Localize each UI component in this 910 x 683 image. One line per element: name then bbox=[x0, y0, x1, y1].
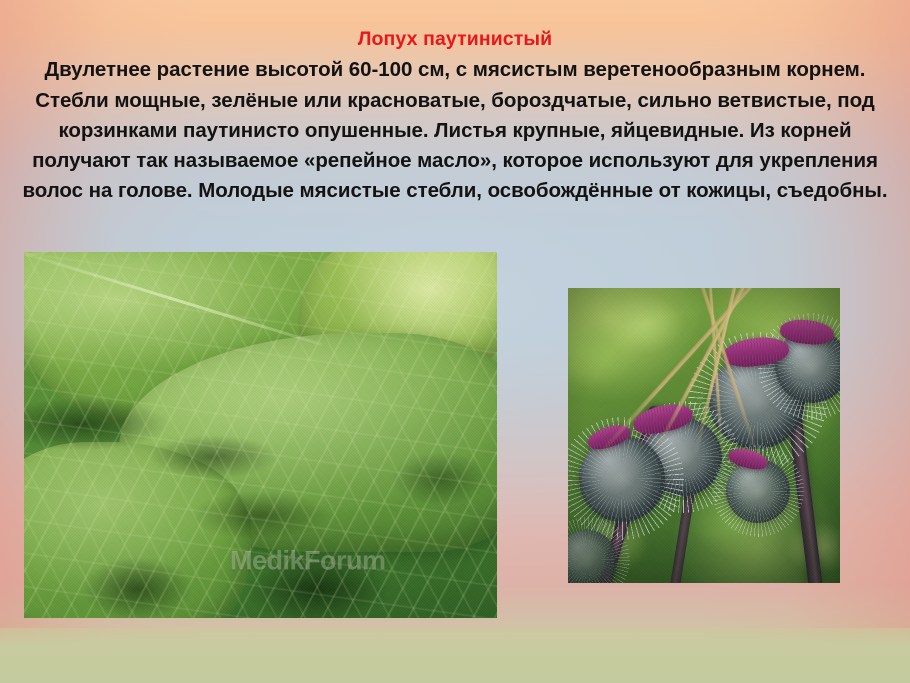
burdock-burrs-photo bbox=[568, 288, 840, 583]
text-block: Лопух паутинистый Двулетнее растение выс… bbox=[0, 0, 910, 206]
page-title: Лопух паутинистый bbox=[0, 0, 910, 49]
burdock-leaves-photo: MedikForum bbox=[24, 252, 497, 618]
slide: Лопух паутинистый Двулетнее растение выс… bbox=[0, 0, 910, 683]
burrs-photo-grain bbox=[568, 288, 840, 583]
description-paragraph: Двулетнее растение высотой 60-100 см, с … bbox=[0, 49, 910, 206]
slide-background-bottom-band bbox=[0, 628, 910, 683]
leaves-photo-grain bbox=[24, 252, 497, 618]
